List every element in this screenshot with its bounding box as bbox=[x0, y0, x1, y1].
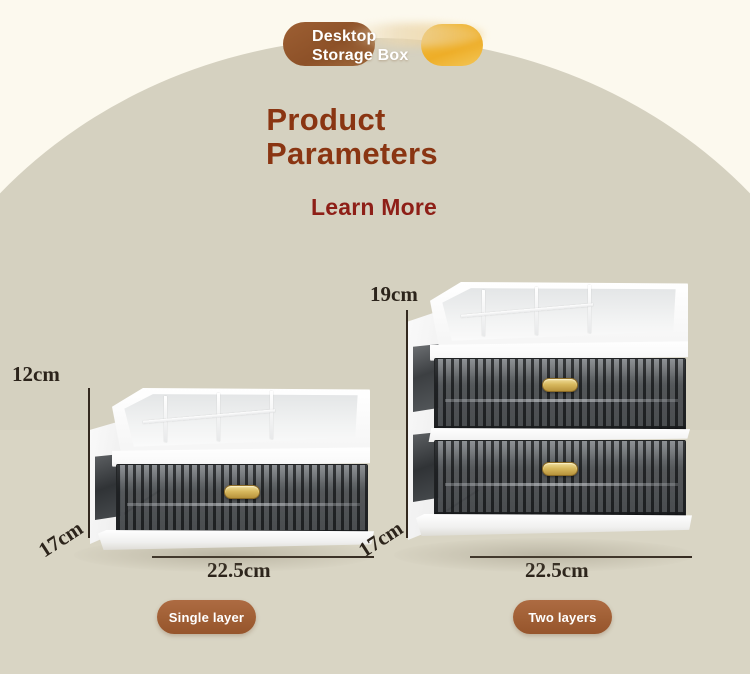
box-tray-divider-single-3 bbox=[270, 391, 273, 440]
box-drawer-single bbox=[116, 464, 368, 536]
drawer-shelf-upper-two bbox=[445, 399, 678, 402]
drawer-shelf-lower-two bbox=[445, 483, 678, 486]
drawer-shelf-single bbox=[127, 503, 360, 506]
drawer-ribs-upper-two bbox=[435, 359, 685, 431]
drawer-ribs-lower-two bbox=[435, 441, 685, 517]
page-title-line-1: Product bbox=[0, 103, 750, 137]
dim-height-line-single bbox=[88, 388, 90, 538]
box-base-plinth-two bbox=[416, 514, 692, 536]
dim-height-label-single: 12cm bbox=[12, 362, 60, 387]
drawer-ribs-single bbox=[117, 465, 367, 535]
two-layers-button[interactable]: Two layers bbox=[513, 600, 612, 634]
drawer-handle-single[interactable] bbox=[224, 485, 260, 499]
drawer-handle-upper-two[interactable] bbox=[542, 378, 578, 392]
badge-label: Desktop Storage Box bbox=[312, 27, 492, 65]
desktop-storage-box-badge: Desktop Storage Box bbox=[283, 17, 483, 67]
product-single-layer-scene: 12cm 17cm 22.5cm bbox=[12, 360, 382, 600]
product-shadow-two bbox=[394, 538, 694, 572]
product-two-layers-scene: 19cm 17cm 22.5cm bbox=[382, 282, 742, 600]
box-drawer-upper-two bbox=[434, 358, 686, 432]
page-title: Product Parameters bbox=[0, 103, 750, 171]
box-tray-divider-two-3 bbox=[588, 285, 591, 334]
drawer-handle-lower-two[interactable] bbox=[542, 462, 578, 476]
page-title-line-2: Parameters bbox=[0, 137, 750, 171]
single-layer-button[interactable]: Single layer bbox=[157, 600, 256, 634]
infographic-stage: Desktop Storage Box Product Parameters L… bbox=[0, 0, 750, 674]
box-drawer-lower-two bbox=[434, 440, 686, 518]
learn-more-subtitle: Learn More bbox=[0, 194, 750, 221]
dim-height-line-two bbox=[406, 310, 408, 538]
dim-height-label-two: 19cm bbox=[370, 282, 418, 307]
